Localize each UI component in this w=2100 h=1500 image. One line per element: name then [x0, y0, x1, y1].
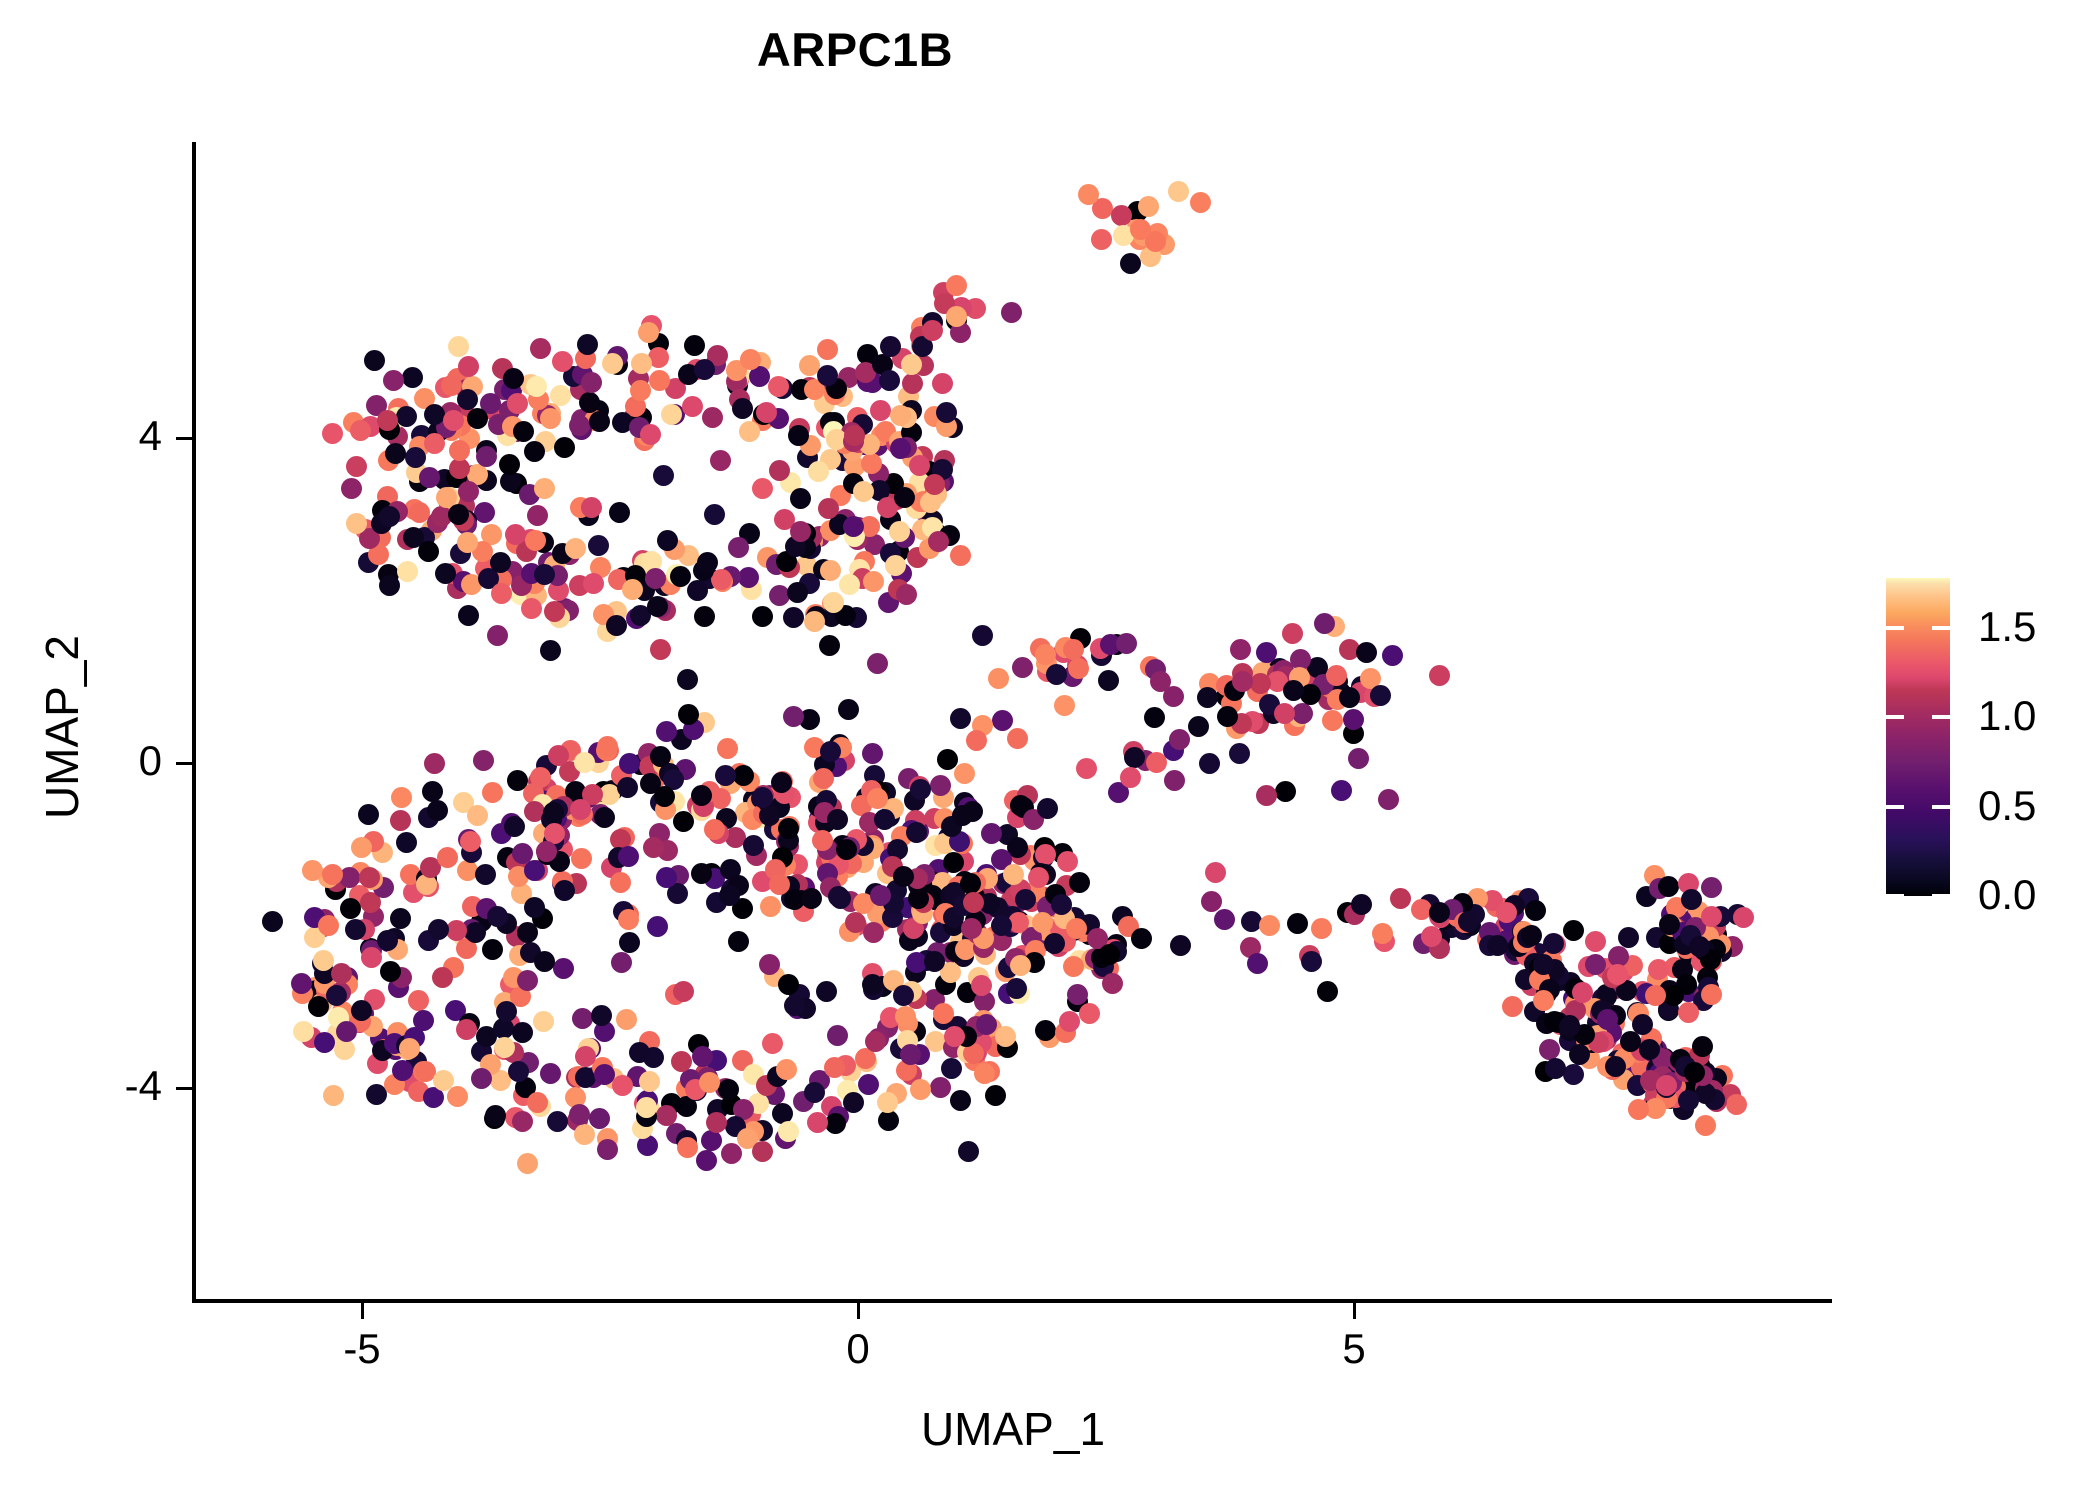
scatter-point — [902, 373, 923, 394]
scatter-point — [474, 502, 495, 523]
scatter-point — [696, 1150, 717, 1171]
scatter-point — [1525, 900, 1546, 921]
scatter-point — [759, 805, 780, 826]
scatter-point — [524, 897, 545, 918]
scatter-point — [893, 985, 914, 1006]
scatter-point — [682, 396, 703, 417]
scatter-point — [527, 505, 548, 526]
scatter-point — [490, 552, 511, 573]
scatter-point — [507, 393, 528, 414]
scatter-point — [950, 1090, 971, 1111]
scatter-point — [1378, 789, 1399, 810]
scatter-point — [924, 474, 945, 495]
scatter-point — [1168, 181, 1189, 202]
scatter-point — [1539, 1039, 1560, 1060]
scatter-point — [517, 922, 538, 943]
scatter-point — [409, 502, 430, 523]
scatter-point — [1007, 728, 1028, 749]
scatter-point — [530, 767, 551, 788]
scatter-point — [482, 782, 503, 803]
scatter-point — [924, 951, 945, 972]
scatter-point — [819, 635, 840, 656]
scatter-point — [776, 1059, 797, 1080]
scatter-point — [1076, 758, 1097, 779]
scatter-point — [1458, 911, 1479, 932]
scatter-point — [790, 521, 811, 542]
scatter-point — [649, 370, 670, 391]
scatter-point — [609, 502, 630, 523]
scatter-point — [1692, 1036, 1713, 1057]
scatter-point — [443, 410, 464, 431]
scatter-point — [1372, 923, 1393, 944]
scatter-point — [517, 1153, 538, 1174]
y-tick-label-2: -4 — [32, 1062, 162, 1110]
scatter-point — [1543, 933, 1564, 954]
scatter-point — [383, 370, 404, 391]
scatter-point — [896, 584, 917, 605]
scatter-point — [950, 545, 971, 566]
scatter-point — [361, 947, 382, 968]
scatter-point — [391, 787, 412, 808]
scatter-point — [721, 1143, 742, 1164]
scatter-point — [1659, 914, 1680, 935]
scatter-point — [995, 1026, 1016, 1047]
scatter-point — [1563, 920, 1584, 941]
y-tick-2 — [176, 1087, 192, 1090]
scatter-point — [1370, 685, 1391, 706]
scatter-point — [1656, 1075, 1677, 1096]
scatter-point — [877, 1092, 898, 1113]
scatter-point — [966, 730, 987, 751]
scatter-point — [710, 450, 731, 471]
scatter-point — [910, 1079, 931, 1100]
scatter-point — [1069, 872, 1090, 893]
scatter-point — [845, 912, 866, 933]
scatter-point — [656, 1105, 677, 1126]
scatter-point — [397, 561, 418, 582]
scatter-point — [933, 1003, 954, 1024]
scatter-point — [684, 335, 705, 356]
scatter-point — [581, 497, 602, 518]
scatter-point — [458, 481, 479, 502]
scatter-point — [1382, 645, 1403, 666]
x-axis-title: UMAP_1 — [194, 1402, 1832, 1456]
scatter-point — [889, 521, 910, 542]
scatter-point — [610, 872, 631, 893]
scatter-point — [1701, 984, 1722, 1005]
scatter-point — [858, 1074, 879, 1095]
scatter-point — [647, 916, 668, 937]
scatter-point — [1563, 1064, 1584, 1085]
scatter-point — [597, 1139, 618, 1160]
scatter-point — [1063, 639, 1084, 660]
scatter-point — [1229, 743, 1250, 764]
scatter-point — [650, 639, 671, 660]
scatter-point — [408, 990, 429, 1011]
scatter-point — [865, 1031, 886, 1052]
scatter-point — [487, 906, 508, 927]
scatter-point — [1102, 973, 1123, 994]
scatter-point — [694, 606, 715, 627]
scatter-point — [816, 981, 837, 1002]
scatter-point — [1322, 710, 1343, 731]
scatter-point — [524, 441, 545, 462]
scatter-point — [890, 438, 911, 459]
scatter-point — [418, 541, 439, 562]
scatter-point — [517, 970, 538, 991]
scatter-point — [976, 1014, 997, 1035]
scatter-point — [1283, 680, 1304, 701]
scatter-point — [1214, 909, 1235, 930]
scatter-point — [1282, 623, 1303, 644]
scatter-point — [380, 961, 401, 982]
scatter-point — [449, 440, 470, 461]
scatter-point — [908, 888, 929, 909]
scatter-point — [1079, 1003, 1100, 1024]
scatter-point — [991, 915, 1012, 936]
y-tick-label-0: 4 — [32, 412, 162, 460]
scatter-point — [1241, 911, 1262, 932]
scatter-point — [513, 421, 534, 442]
scatter-point — [589, 411, 610, 432]
scatter-point — [1326, 665, 1347, 686]
scatter-point — [379, 575, 400, 596]
scatter-point — [487, 625, 508, 646]
scatter-point — [553, 958, 574, 979]
scatter-point — [473, 750, 494, 771]
scatter-point — [656, 721, 677, 742]
scatter-point — [1292, 703, 1313, 724]
scatter-point — [788, 425, 809, 446]
scatter-point — [345, 919, 366, 940]
scatter-point — [677, 1137, 698, 1158]
scatter-point — [1645, 985, 1666, 1006]
scatter-point — [547, 1111, 568, 1132]
scatter-point — [870, 400, 891, 421]
scatter-points-layer — [194, 142, 1832, 1301]
scatter-point — [1681, 889, 1702, 910]
x-tick-label-1: 0 — [798, 1325, 918, 1373]
scatter-point — [827, 809, 848, 830]
scatter-point — [1658, 876, 1679, 897]
scatter-point — [351, 837, 372, 858]
scatter-point — [867, 653, 888, 674]
scatter-point — [1111, 205, 1132, 226]
scatter-point — [861, 453, 882, 474]
scatter-point — [1035, 844, 1056, 865]
scatter-point — [1205, 862, 1226, 883]
scatter-point — [402, 367, 423, 388]
scatter-point — [1169, 729, 1190, 750]
scatter-point — [677, 669, 698, 690]
scatter-point — [433, 1070, 454, 1091]
scatter-point — [639, 1071, 660, 1092]
scatter-point — [392, 1060, 413, 1081]
scatter-point — [447, 1086, 468, 1107]
scatter-point — [536, 841, 557, 862]
scatter-point — [525, 530, 546, 551]
colorbar-tick-right-0 — [1932, 626, 1950, 630]
scatter-point — [900, 1044, 921, 1065]
scatter-point — [1628, 1099, 1649, 1120]
scatter-point — [1317, 981, 1338, 1002]
scatter-point — [583, 573, 604, 594]
scatter-point — [340, 898, 361, 919]
scatter-point — [808, 461, 829, 482]
scatter-point — [944, 1026, 965, 1047]
scatter-point — [930, 1077, 951, 1098]
scatter-point — [874, 809, 895, 830]
scatter-point — [358, 804, 379, 825]
scatter-point — [981, 823, 1002, 844]
scatter-point — [594, 807, 615, 828]
scatter-point — [1032, 912, 1053, 933]
scatter-point — [895, 1006, 916, 1027]
scatter-point — [843, 516, 864, 537]
y-axis-title: UMAP_2 — [35, 547, 89, 907]
scatter-point — [385, 443, 406, 464]
scatter-point — [853, 481, 874, 502]
scatter-point — [458, 605, 479, 626]
scatter-point — [396, 832, 417, 853]
scatter-point — [540, 640, 561, 661]
scatter-point — [732, 398, 753, 419]
scatter-point — [717, 738, 738, 759]
scatter-point — [972, 625, 993, 646]
scatter-point — [512, 1111, 533, 1132]
scatter-point — [476, 446, 497, 467]
scatter-point — [1044, 933, 1065, 954]
scatter-point — [863, 922, 884, 943]
scatter-point — [318, 915, 339, 936]
scatter-point — [1015, 889, 1036, 910]
x-tick-label-2: 5 — [1294, 1325, 1414, 1373]
scatter-point — [602, 353, 623, 374]
colorbar-tick-right-2 — [1932, 805, 1950, 809]
scatter-point — [591, 1005, 612, 1026]
scatter-point — [336, 1021, 357, 1042]
scatter-point — [762, 1033, 783, 1054]
scatter-point — [512, 1022, 533, 1043]
scatter-point — [1569, 1044, 1590, 1065]
scatter-point — [932, 373, 953, 394]
scatter-point — [619, 753, 640, 774]
scatter-point — [448, 336, 469, 357]
plot-panel — [194, 142, 1832, 1301]
scatter-point — [1421, 926, 1442, 947]
scatter-point — [499, 454, 520, 475]
scatter-point — [631, 353, 652, 374]
scatter-point — [262, 911, 283, 932]
scatter-point — [1639, 1039, 1660, 1060]
scatter-point — [622, 579, 643, 600]
scatter-point — [1190, 192, 1211, 213]
scatter-point — [341, 478, 362, 499]
scatter-point — [1250, 673, 1271, 694]
scatter-point — [1572, 982, 1593, 1003]
colorbar-label-2: 0.5 — [1978, 782, 2036, 830]
scatter-point — [985, 1085, 1006, 1106]
scatter-point — [1001, 302, 1022, 323]
scatter-point — [1663, 985, 1684, 1006]
y-tick-1 — [176, 762, 192, 765]
scatter-point — [694, 359, 715, 380]
scatter-point — [617, 777, 638, 798]
scatter-point — [1726, 1094, 1747, 1115]
scatter-point — [863, 571, 884, 592]
scatter-point — [1618, 927, 1639, 948]
scatter-point — [482, 939, 503, 960]
scatter-point — [1678, 1002, 1699, 1023]
scatter-point — [818, 498, 839, 519]
scatter-point — [1098, 670, 1119, 691]
scatter-point — [801, 888, 822, 909]
scatter-point — [702, 407, 723, 428]
scatter-point — [752, 606, 773, 627]
scatter-point — [671, 1051, 692, 1072]
scatter-point — [581, 372, 602, 393]
scatter-point — [1063, 956, 1084, 977]
colorbar-tick-left-1 — [1886, 715, 1904, 719]
scatter-point — [322, 423, 343, 444]
scatter-point — [457, 389, 478, 410]
scatter-point — [1057, 851, 1078, 872]
scatter-point — [1116, 633, 1137, 654]
scatter-point — [323, 1085, 344, 1106]
scatter-point — [640, 424, 661, 445]
scatter-point — [1054, 695, 1075, 716]
scatter-point — [838, 699, 859, 720]
scatter-point — [817, 339, 838, 360]
scatter-point — [728, 931, 749, 952]
scatter-point — [910, 779, 931, 800]
scatter-point — [760, 896, 781, 917]
scatter-point — [813, 768, 834, 789]
scatter-point — [377, 410, 398, 431]
scatter-point — [458, 356, 479, 377]
scatter-point — [650, 746, 671, 767]
scatter-point — [636, 1097, 657, 1118]
scatter-point — [432, 967, 453, 988]
scatter-point — [494, 1037, 515, 1058]
scatter-point — [787, 582, 808, 603]
colorbar-label-1: 1.0 — [1978, 692, 2036, 740]
y-tick-0 — [176, 437, 192, 440]
x-tick-label-0: -5 — [302, 1325, 422, 1373]
scatter-point — [778, 1121, 799, 1142]
scatter-point — [894, 487, 915, 508]
scatter-point — [839, 574, 860, 595]
scatter-point — [533, 1011, 554, 1032]
scatter-point — [1006, 978, 1027, 999]
scatter-point — [1259, 915, 1280, 936]
scatter-point — [1701, 877, 1722, 898]
scatter-point — [1144, 707, 1165, 728]
scatter-point — [1188, 716, 1209, 737]
scatter-point — [1620, 1031, 1641, 1052]
scatter-point — [807, 1112, 828, 1133]
scatter-point — [715, 765, 736, 786]
scatter-point — [820, 560, 841, 581]
scatter-point — [783, 607, 804, 628]
scatter-point — [1059, 1011, 1080, 1032]
scatter-point — [954, 763, 975, 784]
scatter-point — [396, 406, 417, 427]
scatter-point — [390, 810, 411, 831]
scatter-point — [548, 745, 569, 766]
scatter-point — [570, 799, 591, 820]
scatter-point — [471, 1068, 492, 1089]
scatter-point — [364, 350, 385, 371]
scatter-point — [1037, 798, 1058, 819]
scatter-point — [1605, 1056, 1626, 1077]
scatter-point — [530, 338, 551, 359]
scatter-point — [521, 598, 542, 619]
scatter-point — [823, 592, 844, 613]
scatter-point — [824, 1057, 845, 1078]
scatter-point — [554, 437, 575, 458]
scatter-point — [491, 583, 512, 604]
scatter-point — [1678, 1090, 1699, 1111]
scatter-point — [909, 455, 930, 476]
scatter-point — [618, 909, 639, 930]
scatter-point — [844, 425, 865, 446]
scatter-point — [424, 433, 445, 454]
scatter-point — [616, 1009, 637, 1030]
scatter-point — [1035, 644, 1056, 665]
scatter-point — [467, 408, 488, 429]
scatter-point — [1695, 1115, 1716, 1136]
colorbar-legend: 1.51.00.50.0 — [1880, 578, 2080, 908]
scatter-point — [783, 706, 804, 727]
scatter-point — [752, 478, 773, 499]
scatter-point — [906, 822, 927, 843]
scatter-point — [449, 458, 470, 479]
scatter-point — [1429, 902, 1450, 923]
scatter-point — [413, 1010, 434, 1031]
scatter-point — [1533, 990, 1554, 1011]
colorbar-label-3: 0.0 — [1978, 871, 2036, 919]
scatter-point — [670, 566, 691, 587]
scatter-point — [1130, 219, 1151, 240]
scatter-point — [527, 1092, 548, 1113]
scatter-point — [1120, 253, 1141, 274]
x-tick-1 — [857, 1303, 860, 1319]
scatter-point — [643, 837, 664, 858]
scatter-point — [508, 1061, 529, 1082]
scatter-point — [503, 368, 524, 389]
scatter-point — [862, 974, 883, 995]
scatter-point — [733, 765, 754, 786]
scatter-point — [611, 952, 632, 973]
scatter-point — [1301, 951, 1322, 972]
scatter-point — [1331, 780, 1352, 801]
umap-feature-plot: ARPC1B -505 40-4 UMAP_1 UMAP_2 1.51.00.5… — [0, 0, 2100, 1500]
scatter-point — [1502, 996, 1523, 1017]
scatter-point — [427, 800, 448, 821]
scatter-point — [920, 492, 941, 513]
colorbar-tick-left-0 — [1886, 626, 1904, 630]
scatter-point — [1733, 907, 1754, 928]
scatter-point — [540, 1063, 561, 1084]
scatter-point — [575, 1046, 596, 1067]
scatter-point — [752, 1141, 773, 1162]
x-tick-0 — [361, 1303, 364, 1319]
scatter-point — [778, 974, 799, 995]
scatter-point — [1131, 928, 1152, 949]
colorbar-label-0: 1.5 — [1978, 603, 2036, 651]
scatter-point — [879, 370, 900, 391]
